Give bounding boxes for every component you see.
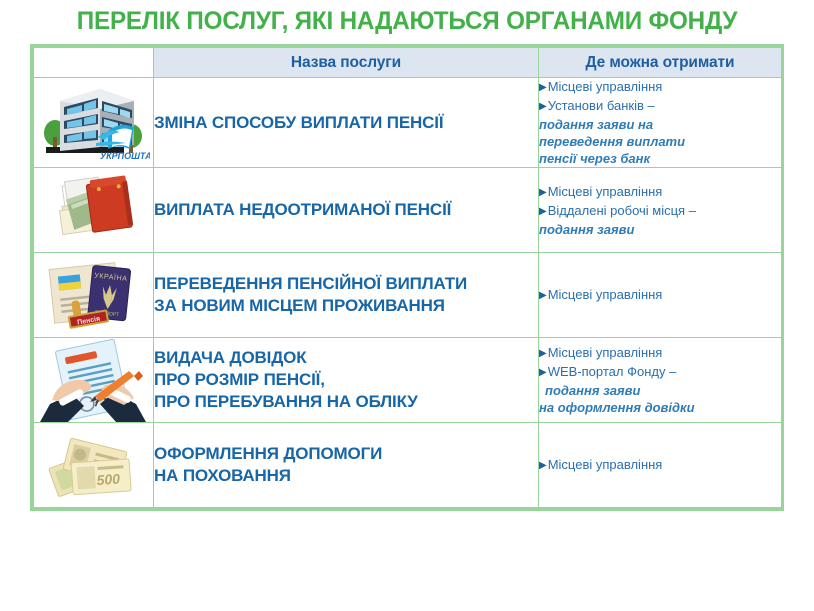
- service-name-line: ВИДАЧА ДОВІДОК: [154, 347, 538, 369]
- service-icon-cell: [34, 168, 154, 253]
- where-note-line: на оформлення довідки: [539, 399, 781, 416]
- service-icon-cell: 500: [34, 423, 154, 508]
- where-bullet-item: ▶Віддалені робочі місця –: [539, 202, 781, 221]
- where-bullet-item: ▶WEB-портал Фонду –: [539, 363, 781, 382]
- service-icon-cell: УКРАЇНА ПАСПОРТ Пенсія: [34, 253, 154, 338]
- where-text: подання заяви: [539, 222, 634, 237]
- service-icon-cell: [34, 338, 154, 423]
- header-where: Де можна отримати: [539, 48, 782, 78]
- page-title: ПЕРЕЛІК ПОСЛУГ, ЯКІ НАДАЮТЬСЯ ОРГАНАМИ Ф…: [12, 0, 802, 40]
- where-bullet-item: ▶Установи банків –: [539, 97, 781, 116]
- office-building-ukrposhta-icon: УКРПОШТА: [38, 81, 150, 165]
- triangle-bullet-icon: ▶: [539, 203, 547, 220]
- service-name-cell: ОФОРМЛЕННЯ ДОПОМОГИНА ПОХОВАННЯ: [154, 423, 539, 508]
- service-name-cell: ПЕРЕВЕДЕННЯ ПЕНСІЙНОЇ ВИПЛАТИЗА НОВИМ МІ…: [154, 253, 539, 338]
- where-note-line: подання заяви: [539, 382, 781, 399]
- where-text: подання заяви: [545, 383, 640, 398]
- where-bullet-item: ▶Місцеві управління: [539, 286, 781, 305]
- where-text: Місцеві управління: [548, 345, 663, 360]
- signing-document-icon: [38, 338, 150, 422]
- table-row: ВИДАЧА ДОВІДОКПРО РОЗМІР ПЕНСІЇ,ПРО ПЕРЕ…: [34, 338, 782, 423]
- where-note-line: пенсії через банк: [539, 150, 781, 167]
- document-folders-icon: [38, 168, 150, 252]
- where-text: Віддалені робочі місця –: [548, 203, 696, 218]
- where-text: пенсії через банк: [539, 151, 650, 166]
- header-row: Назва послуги Де можна отримати: [34, 48, 782, 78]
- signing-document-icon: [38, 338, 150, 422]
- where-available-cell: ▶Місцеві управління▶Віддалені робочі міс…: [539, 168, 782, 253]
- where-available-cell: ▶Місцеві управління: [539, 423, 782, 508]
- where-text: Місцеві управління: [548, 79, 663, 94]
- triangle-bullet-icon: ▶: [539, 184, 547, 201]
- where-text: подання заяви на: [539, 117, 653, 132]
- service-name-line: ВИПЛАТА НЕДООТРИМАНОЇ ПЕНСІЇ: [154, 199, 538, 221]
- service-name-line: ПРО РОЗМІР ПЕНСІЇ,: [154, 369, 538, 391]
- office-building-ukrposhta-icon: УКРПОШТА: [38, 81, 150, 165]
- table-row: ВИПЛАТА НЕДООТРИМАНОЇ ПЕНСІЇ▶Місцеві упр…: [34, 168, 782, 253]
- table-body: УКРПОШТА ЗМІНА СПОСОБУ ВИПЛАТИ ПЕНСІЇ▶Мі…: [34, 78, 782, 508]
- where-bullet-item: ▶Місцеві управління: [539, 344, 781, 363]
- where-available-cell: ▶Місцеві управління▶WEB-портал Фонду –по…: [539, 338, 782, 423]
- where-text: Установи банків –: [548, 98, 655, 113]
- hryvnia-banknotes-icon: 500: [38, 423, 150, 507]
- service-name-cell: ВИДАЧА ДОВІДОКПРО РОЗМІР ПЕНСІЇ,ПРО ПЕРЕ…: [154, 338, 539, 423]
- table-header: Назва послуги Де можна отримати: [34, 48, 782, 78]
- hryvnia-banknotes-icon: 500: [38, 423, 150, 507]
- table-row: УКРАЇНА ПАСПОРТ Пенсія ПЕРЕВЕДЕННЯ ПЕНСІ…: [34, 253, 782, 338]
- where-text: на оформлення довідки: [539, 400, 695, 415]
- service-name-line: ЗМІНА СПОСОБУ ВИПЛАТИ ПЕНСІЇ: [154, 112, 538, 134]
- service-name-line: ОФОРМЛЕННЯ ДОПОМОГИ: [154, 443, 538, 465]
- where-text: Місцеві управління: [548, 184, 663, 199]
- passport-stamp-icon: УКРАЇНА ПАСПОРТ Пенсія: [38, 253, 150, 337]
- triangle-bullet-icon: ▶: [539, 287, 547, 304]
- service-icon-cell: УКРПОШТА: [34, 78, 154, 168]
- header-icon-blank: [34, 48, 154, 78]
- where-bullet-item: ▶Місцеві управління: [539, 456, 781, 475]
- service-name-line: НА ПОХОВАННЯ: [154, 465, 538, 487]
- where-note-line: подання заяви: [539, 221, 781, 238]
- service-name-line: ПРО ПЕРЕБУВАННЯ НА ОБЛІКУ: [154, 391, 538, 413]
- where-bullet-item: ▶Місцеві управління: [539, 78, 781, 97]
- services-table: Назва послуги Де можна отримати: [33, 47, 782, 508]
- table-row: 500 ОФОРМЛЕННЯ ДОПОМОГИНА ПОХОВАННЯ▶Місц…: [34, 423, 782, 508]
- services-table-container: Назва послуги Де можна отримати: [30, 44, 784, 511]
- service-name-line: ПЕРЕВЕДЕННЯ ПЕНСІЙНОЇ ВИПЛАТИ: [154, 273, 538, 295]
- triangle-bullet-icon: ▶: [539, 364, 547, 381]
- where-text: WEB-портал Фонду –: [548, 364, 677, 379]
- passport-stamp-icon: УКРАЇНА ПАСПОРТ Пенсія: [38, 253, 150, 337]
- table-row: УКРПОШТА ЗМІНА СПОСОБУ ВИПЛАТИ ПЕНСІЇ▶Мі…: [34, 78, 782, 168]
- header-service-name: Назва послуги: [154, 48, 539, 78]
- where-text: Місцеві управління: [548, 457, 663, 472]
- where-available-cell: ▶Місцеві управління▶Установи банків –под…: [539, 78, 782, 168]
- triangle-bullet-icon: ▶: [539, 98, 547, 115]
- triangle-bullet-icon: ▶: [539, 79, 547, 96]
- document-folders-icon: [38, 168, 150, 252]
- service-name-cell: ЗМІНА СПОСОБУ ВИПЛАТИ ПЕНСІЇ: [154, 78, 539, 168]
- where-text: переведення виплати: [539, 134, 685, 149]
- where-text: Місцеві управління: [548, 287, 663, 302]
- where-note-line: переведення виплати: [539, 133, 781, 150]
- svg-text:500: 500: [96, 470, 121, 488]
- svg-text:УКРПОШТА: УКРПОШТА: [100, 151, 150, 161]
- triangle-bullet-icon: ▶: [539, 457, 547, 474]
- service-name-line: ЗА НОВИМ МІСЦЕМ ПРОЖИВАННЯ: [154, 295, 538, 317]
- where-bullet-item: ▶Місцеві управління: [539, 183, 781, 202]
- service-name-cell: ВИПЛАТА НЕДООТРИМАНОЇ ПЕНСІЇ: [154, 168, 539, 253]
- where-note-line: подання заяви на: [539, 116, 781, 133]
- where-available-cell: ▶Місцеві управління: [539, 253, 782, 338]
- triangle-bullet-icon: ▶: [539, 345, 547, 362]
